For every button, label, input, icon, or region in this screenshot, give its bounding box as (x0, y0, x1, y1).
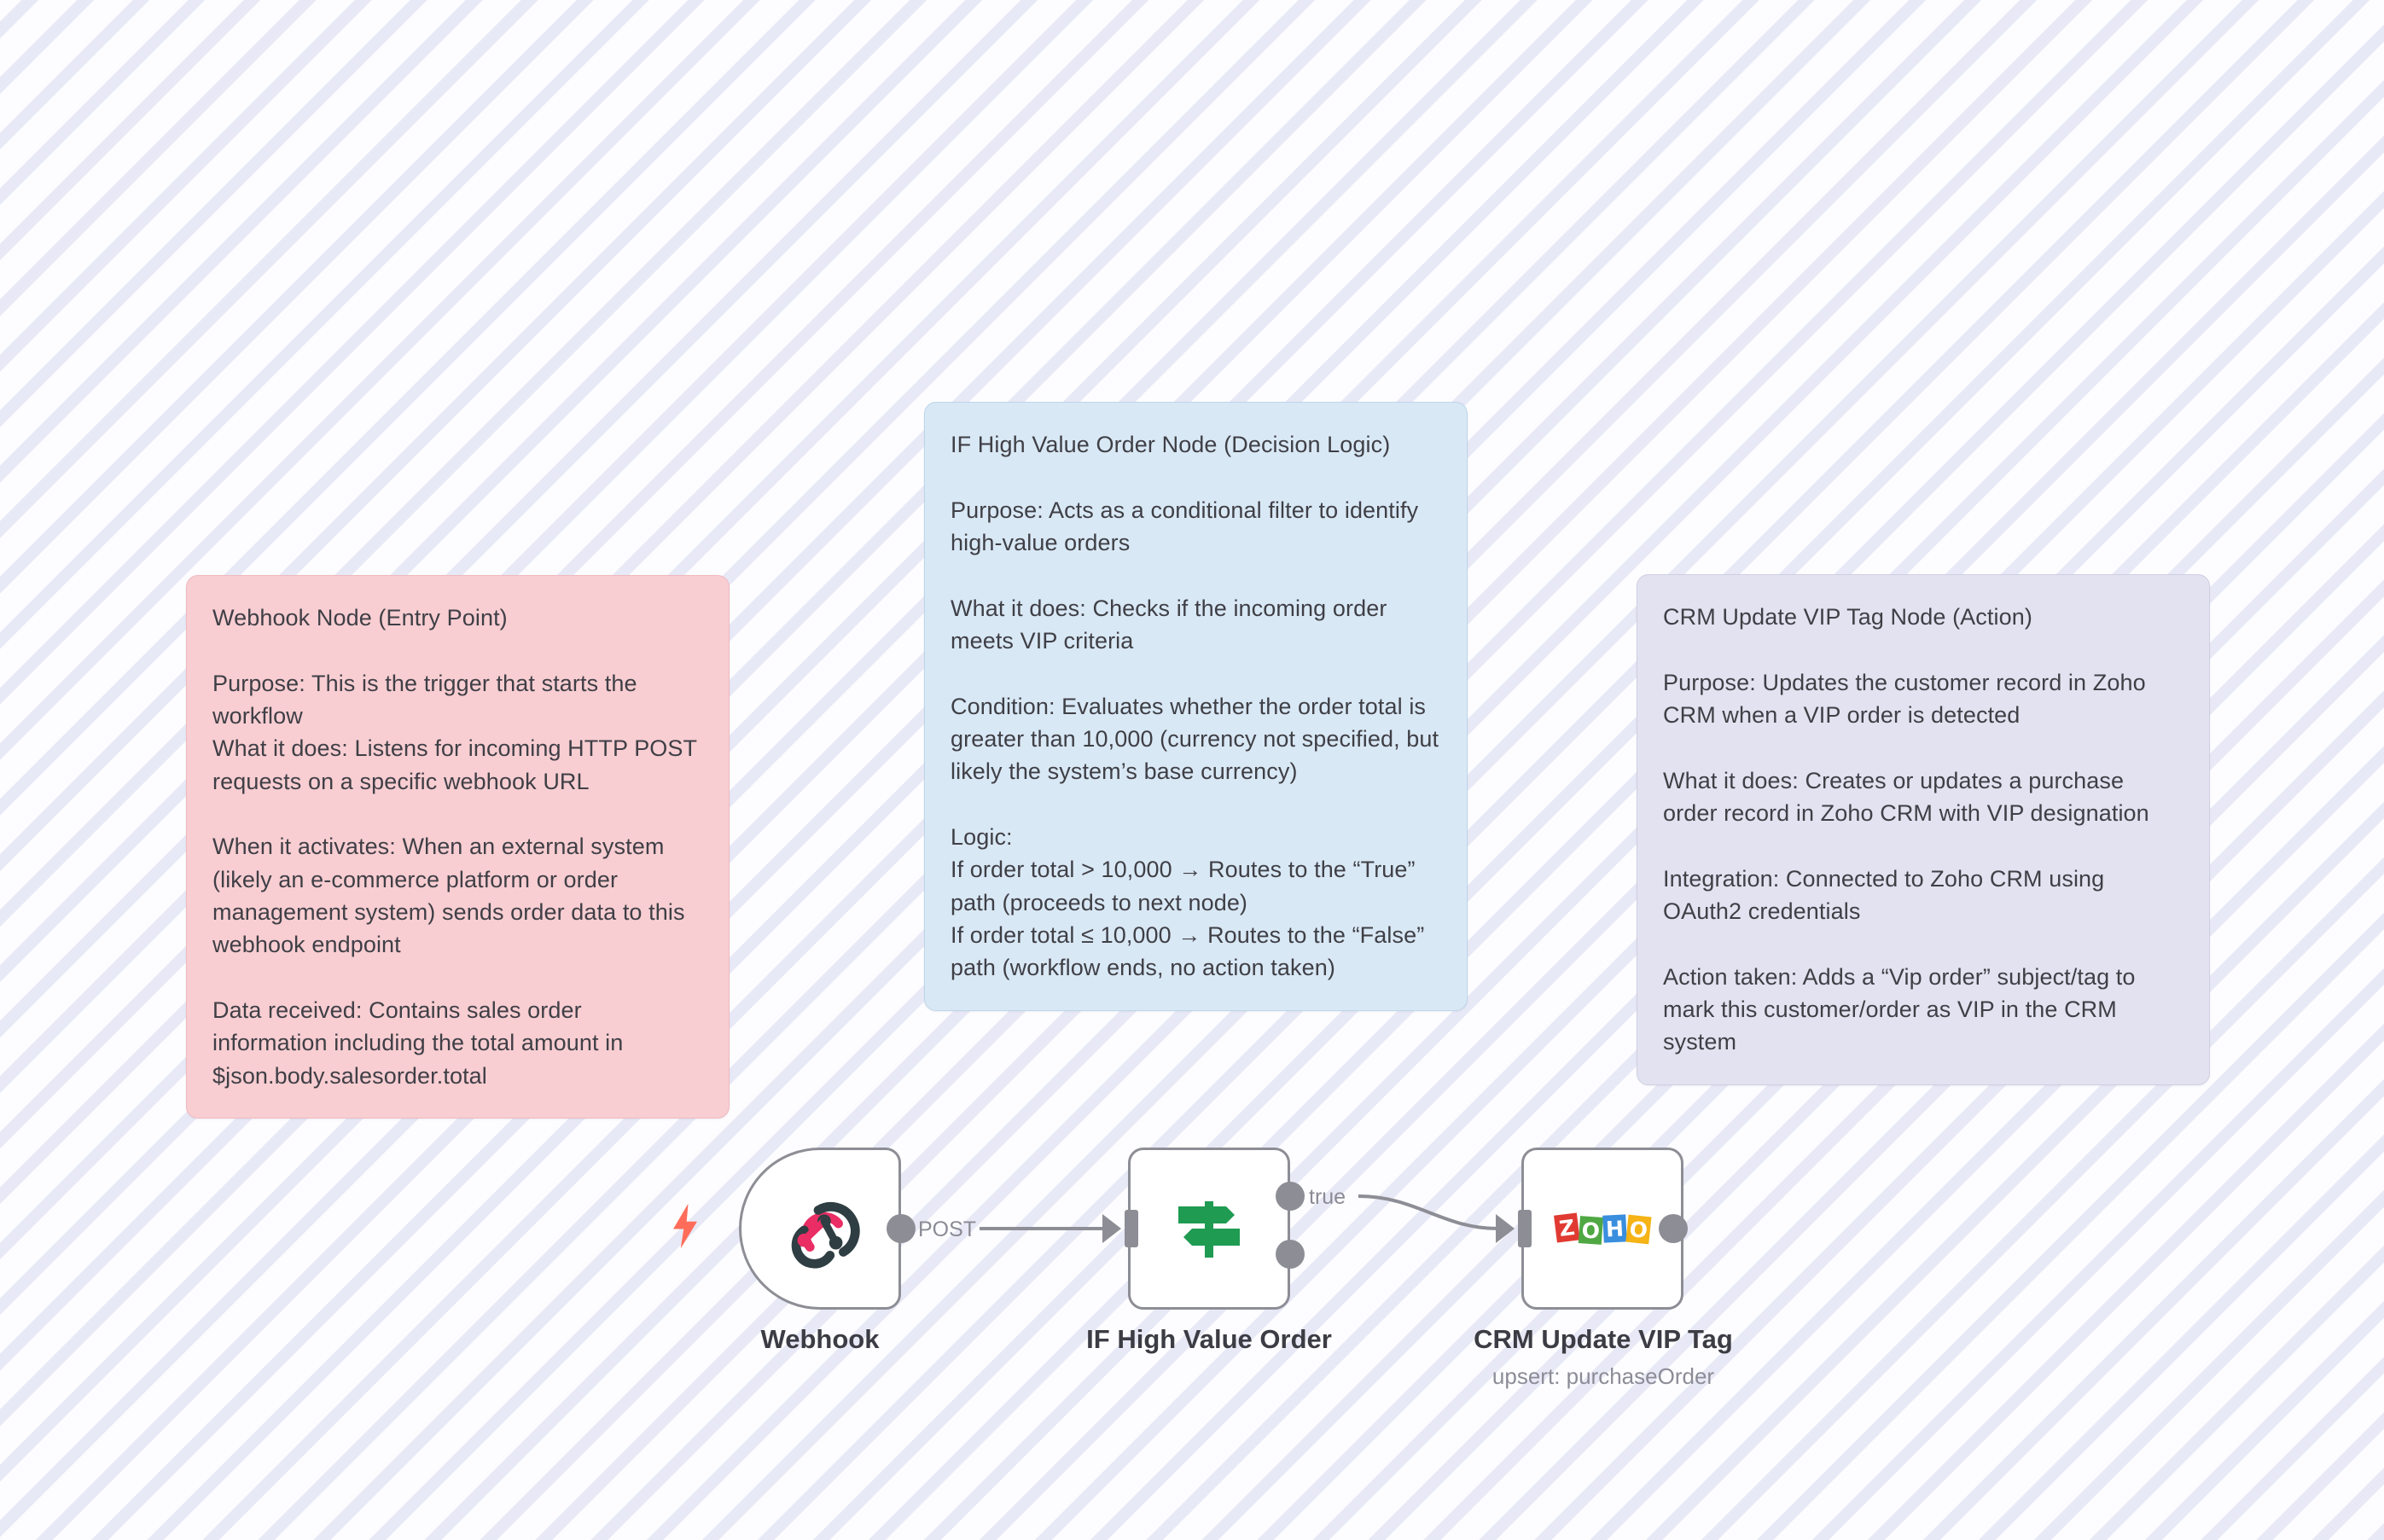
webhook-icon (778, 1187, 862, 1270)
port-crm-input[interactable] (1518, 1210, 1532, 1247)
node-if-high-value-order[interactable] (1128, 1148, 1290, 1310)
node-sublabel-crm: upsert: purchaseOrder (1492, 1363, 1714, 1390)
note-crm-title: CRM Update VIP Tag Node (Action) (1663, 601, 2182, 633)
note-crm-action: Action taken: Adds a “Vip order” subject… (1663, 961, 2182, 1059)
node-webhook[interactable] (739, 1148, 901, 1310)
note-if-what: What it does: Checks if the incoming ord… (951, 592, 1439, 658)
note-webhook-what: What it does: Listens for incoming HTTP … (212, 732, 701, 798)
note-if-title: IF High Value Order Node (Decision Logic… (951, 428, 1439, 461)
node-label-if: IF High Value Order (1086, 1324, 1332, 1355)
note-webhook-data: Data received: Contains sales order info… (212, 994, 701, 1092)
edge-label-true: true (1309, 1185, 1346, 1210)
note-if-logic-false: If order total ≤ 10,000 → Routes to the … (951, 919, 1439, 985)
port-if-input[interactable] (1125, 1210, 1138, 1247)
edge-if-to-crm (1358, 1196, 1498, 1229)
workflow-canvas[interactable]: Webhook Node (Entry Point) Purpose: This… (0, 0, 2384, 1540)
sticky-note-webhook[interactable]: Webhook Node (Entry Point) Purpose: This… (186, 575, 730, 1119)
note-if-purpose: Purpose: Acts as a conditional filter to… (951, 494, 1439, 560)
zoho-letter-h: H (1602, 1214, 1627, 1242)
note-webhook-purpose: Purpose: This is the trigger that starts… (212, 667, 701, 733)
port-if-output-false[interactable] (1276, 1240, 1305, 1269)
port-crm-input-arrow (1496, 1214, 1515, 1243)
port-if-output-true[interactable] (1276, 1182, 1305, 1211)
port-crm-output[interactable] (1659, 1214, 1688, 1243)
note-if-logic-true: If order total > 10,000 → Routes to the … (951, 853, 1439, 919)
zoho-letter-o1: O (1578, 1216, 1602, 1245)
node-label-crm: CRM Update VIP Tag (1474, 1324, 1733, 1355)
note-if-condition: Condition: Evaluates whether the order t… (951, 690, 1439, 788)
node-label-webhook: Webhook (761, 1324, 880, 1355)
note-crm-integration: Integration: Connected to Zoho CRM using… (1663, 863, 2182, 928)
zoho-icon: Z O H O (1555, 1215, 1650, 1242)
port-webhook-output[interactable] (887, 1214, 916, 1243)
sticky-note-crm[interactable]: CRM Update VIP Tag Node (Action) Purpose… (1637, 574, 2210, 1085)
edge-label-post: POST (918, 1217, 976, 1242)
note-crm-what: What it does: Creates or updates a purch… (1663, 764, 2182, 830)
note-crm-purpose: Purpose: Updates the customer record in … (1663, 666, 2182, 732)
zoho-letter-z: Z (1554, 1212, 1580, 1242)
sticky-note-if[interactable]: IF High Value Order Node (Decision Logic… (924, 402, 1468, 1011)
note-webhook-when: When it activates: When an external syst… (212, 830, 701, 961)
port-if-input-arrow (1102, 1214, 1121, 1243)
signpost-icon (1166, 1186, 1252, 1271)
note-webhook-title: Webhook Node (Entry Point) (212, 601, 701, 634)
note-if-logic-heading: Logic: (951, 821, 1439, 853)
trigger-bolt-icon (667, 1201, 703, 1251)
zoho-letter-o2: O (1625, 1215, 1651, 1245)
